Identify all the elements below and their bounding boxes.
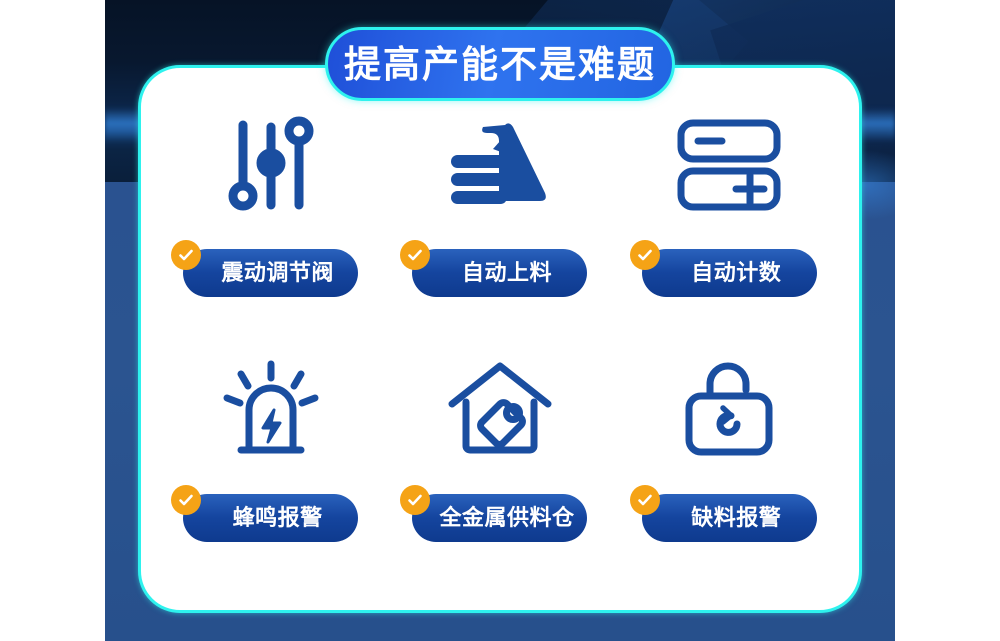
- feature-item-material-shortage-alarm[interactable]: 缺料报警: [615, 342, 844, 587]
- feeding-arrow-icon: [447, 105, 552, 225]
- feature-label-row[interactable]: 缺料报警: [642, 494, 817, 542]
- feature-label: 蜂鸣报警: [233, 507, 323, 529]
- feature-item-auto-feeding[interactable]: 自动上料: [385, 97, 614, 342]
- feature-label-pill[interactable]: 震动调节阀: [183, 249, 358, 297]
- feature-label-pill[interactable]: 自动上料: [412, 249, 587, 297]
- feature-label: 自动上料: [462, 262, 552, 284]
- feature-item-buzzer-alarm[interactable]: 蜂鸣报警: [156, 342, 385, 587]
- sliders-icon: [221, 105, 321, 225]
- feature-label-row[interactable]: 自动计数: [642, 249, 817, 297]
- feature-label: 震动调节阀: [221, 262, 334, 284]
- check-icon: [630, 240, 660, 270]
- promo-banner-page: 提高产能不是难题 震动调节阀: [0, 0, 1000, 641]
- feature-item-metal-hopper[interactable]: 全金属供料仓: [385, 342, 614, 587]
- warehouse-tag-icon: [447, 350, 553, 470]
- alarm-siren-icon: [219, 350, 323, 470]
- counter-plus-minus-icon: [674, 105, 784, 225]
- feature-label-pill[interactable]: 自动计数: [642, 249, 817, 297]
- feature-label: 自动计数: [691, 262, 781, 284]
- feature-label-pill[interactable]: 缺料报警: [642, 494, 817, 542]
- check-icon: [171, 240, 201, 270]
- check-icon: [171, 485, 201, 515]
- unlock-refresh-icon: [679, 350, 779, 470]
- feature-label: 缺料报警: [691, 507, 781, 529]
- feature-label-row[interactable]: 蜂鸣报警: [183, 494, 358, 542]
- feature-label-row[interactable]: 全金属供料仓: [412, 494, 587, 542]
- feature-grid: 震动调节阀: [138, 65, 862, 613]
- feature-item-auto-counting[interactable]: 自动计数: [615, 97, 844, 342]
- check-icon: [630, 485, 660, 515]
- feature-label-pill[interactable]: 全金属供料仓: [412, 494, 587, 542]
- feature-label-row[interactable]: 震动调节阀: [183, 249, 358, 297]
- feature-label: 全金属供料仓: [439, 507, 574, 529]
- feature-item-vibration-valve[interactable]: 震动调节阀: [156, 97, 385, 342]
- feature-label-pill[interactable]: 蜂鸣报警: [183, 494, 358, 542]
- feature-label-row[interactable]: 自动上料: [412, 249, 587, 297]
